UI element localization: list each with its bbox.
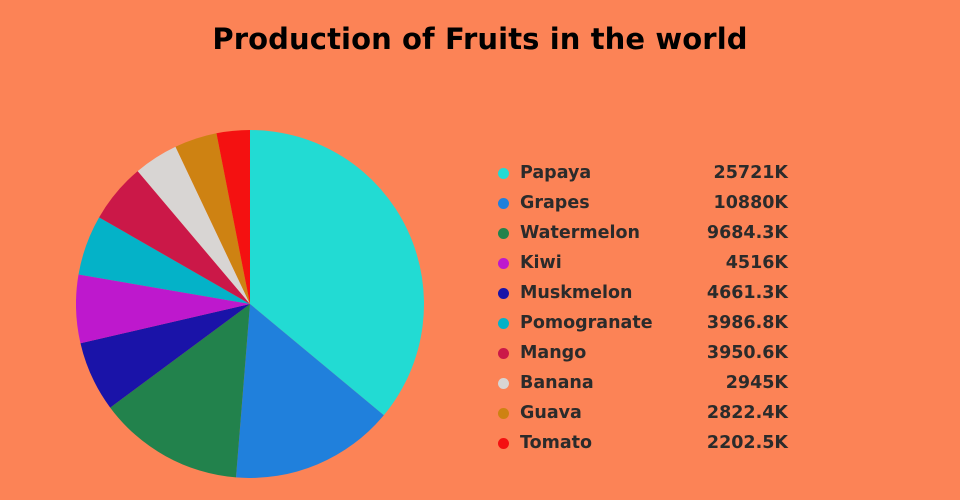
legend-item-value: 2822.4K	[707, 398, 788, 428]
legend-item-value: 3950.6K	[707, 338, 788, 368]
pie-svg	[76, 130, 424, 478]
legend-item-grapes[interactable]: Grapes10880K	[498, 188, 788, 218]
legend-item-label: Guava	[520, 398, 582, 428]
page-title: Production of Fruits in the world	[0, 22, 960, 56]
legend-item-pomogranate[interactable]: Pomogranate3986.8K	[498, 308, 788, 338]
legend-item-value: 9684.3K	[707, 218, 788, 248]
legend-item-label: Muskmelon	[520, 278, 633, 308]
legend-item-muskmelon[interactable]: Muskmelon4661.3K	[498, 278, 788, 308]
legend-color-swatch-icon	[498, 318, 509, 329]
pie-chart-plot-area	[76, 130, 424, 478]
legend-item-tomato[interactable]: Tomato2202.5K	[498, 428, 788, 458]
legend-item-label: Mango	[520, 338, 586, 368]
legend-item-mango[interactable]: Mango3950.6K	[498, 338, 788, 368]
legend-item-value: 3986.8K	[707, 308, 788, 338]
legend-item-label: Pomogranate	[520, 308, 653, 338]
legend-color-swatch-icon	[498, 438, 509, 449]
legend-item-value: 2945K	[726, 368, 788, 398]
legend-color-swatch-icon	[498, 228, 509, 239]
legend-item-value: 4661.3K	[707, 278, 788, 308]
pie-chart-figure: Production of Fruits in the world Papaya…	[0, 0, 960, 500]
legend-color-swatch-icon	[498, 408, 509, 419]
legend-color-swatch-icon	[498, 288, 509, 299]
pie-slice-group	[76, 130, 424, 478]
legend-item-label: Kiwi	[520, 248, 562, 278]
legend-color-swatch-icon	[498, 168, 509, 179]
legend-item-kiwi[interactable]: Kiwi4516K	[498, 248, 788, 278]
legend-color-swatch-icon	[498, 198, 509, 209]
legend-color-swatch-icon	[498, 348, 509, 359]
legend-item-value: 10880K	[714, 188, 788, 218]
legend-item-watermelon[interactable]: Watermelon9684.3K	[498, 218, 788, 248]
legend-color-swatch-icon	[498, 258, 509, 269]
legend-item-label: Papaya	[520, 158, 591, 188]
legend-item-label: Tomato	[520, 428, 592, 458]
chart-legend: Papaya25721KGrapes10880KWatermelon9684.3…	[498, 158, 788, 458]
legend-item-guava[interactable]: Guava2822.4K	[498, 398, 788, 428]
legend-item-papaya[interactable]: Papaya25721K	[498, 158, 788, 188]
legend-item-value: 2202.5K	[707, 428, 788, 458]
legend-item-value: 4516K	[726, 248, 788, 278]
legend-item-label: Grapes	[520, 188, 590, 218]
legend-item-banana[interactable]: Banana2945K	[498, 368, 788, 398]
legend-item-value: 25721K	[714, 158, 788, 188]
legend-item-label: Watermelon	[520, 218, 640, 248]
legend-item-label: Banana	[520, 368, 594, 398]
legend-color-swatch-icon	[498, 378, 509, 389]
